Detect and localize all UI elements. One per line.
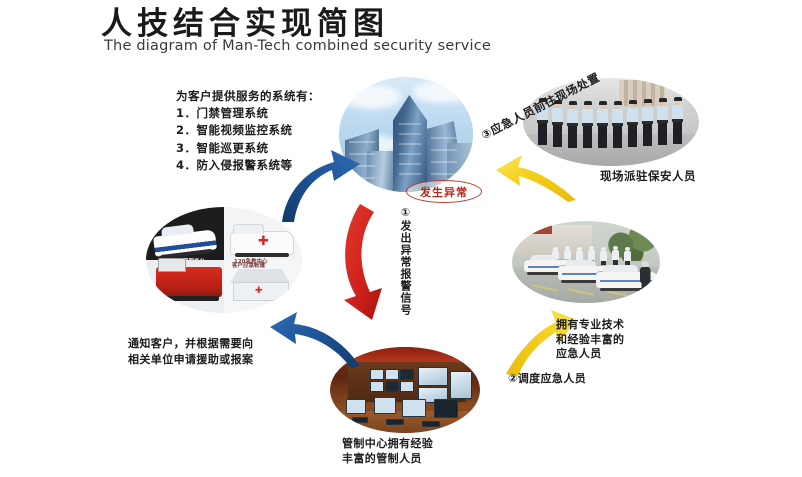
caption-notify-client: 通知客户，并根据需要向 相关单位申请援助或报案 — [128, 336, 253, 367]
vehicle-label-tent: 客户应急帐篷 — [232, 261, 265, 269]
page-subtitle: The diagram of Man-Tech combined securit… — [104, 38, 491, 54]
caption-onsite-guards: 现场派驻保安人员 — [600, 168, 696, 184]
patrol-cars-photo — [512, 221, 660, 303]
step-2-label: ②调度应急人员 — [508, 370, 586, 386]
caption-control-center: 管制中心拥有经验 丰富的管制人员 — [342, 437, 433, 466]
diagram-canvas: 人技结合实现简图 The diagram of Man-Tech combine… — [0, 0, 802, 477]
abnormal-status-badge: 发生异常 — [406, 180, 482, 203]
yellow-arrow-up-left-top — [494, 140, 580, 204]
systems-list-text: 为客户提供服务的系统有： 1．门禁管理系统 2．智能视频监控系统 3．智能巡更系… — [176, 88, 320, 174]
caption-responders: 拥有专业技术 和经验丰富的 应急人员 — [556, 318, 624, 362]
step-1-label: ①发出异常报警信号 — [396, 206, 412, 316]
